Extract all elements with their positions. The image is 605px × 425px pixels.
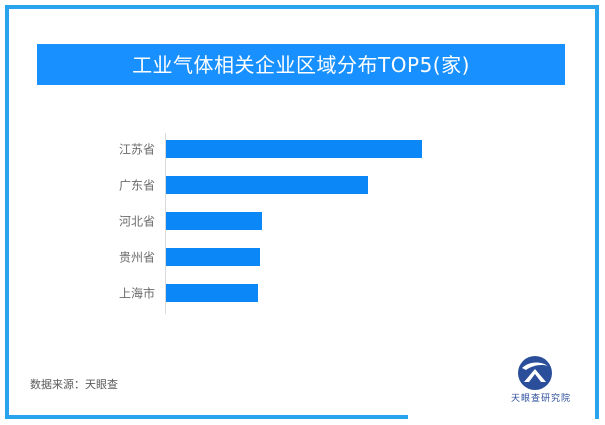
- bar-1: [166, 140, 422, 158]
- bar-category-label: 上海市: [60, 285, 155, 302]
- bar-row: 上海市: [0, 275, 605, 311]
- brand-logo-text: 天眼查研究院: [495, 391, 587, 404]
- bar-2: [166, 176, 368, 194]
- bar-row: 河北省: [0, 203, 605, 239]
- bar-row: 贵州省: [0, 239, 605, 275]
- bar-category-label: 江苏省: [60, 141, 155, 158]
- data-source-label: 数据来源：天眼查: [30, 376, 118, 392]
- bar-category-label: 贵州省: [60, 249, 155, 266]
- bar-4: [166, 248, 260, 266]
- bar-row: 广东省: [0, 167, 605, 203]
- brand-logo: 天眼查研究院: [495, 355, 587, 407]
- bar-category-label: 河北省: [60, 213, 155, 230]
- chart-page: 工业气体相关企业区域分布TOP5(家) 江苏省广东省河北省贵州省上海市 数据来源…: [0, 0, 605, 425]
- bar-row: 江苏省: [0, 131, 605, 167]
- tianyancha-eye-icon: [517, 355, 553, 391]
- bar-3: [166, 212, 262, 230]
- bar-5: [166, 284, 258, 302]
- bar-category-label: 广东省: [60, 177, 155, 194]
